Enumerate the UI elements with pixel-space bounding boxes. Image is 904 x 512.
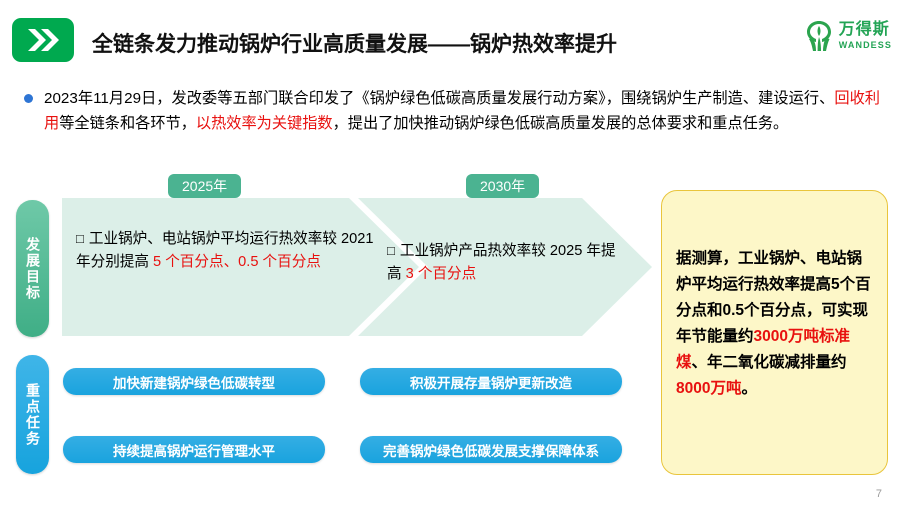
timeline-stage-text-2: □工业锅炉产品热效率较 2025 年提高 3 个百分点 (387, 239, 627, 286)
task-button-3[interactable]: 持续提高锅炉运行管理水平 (63, 436, 325, 463)
highlighted-text: 8000万吨 (676, 380, 741, 397)
timeline-chevron-band: □工业锅炉、电站锅炉平均运行热效率较 2021 年分别提高 5 个百分点、0.5… (62, 198, 652, 336)
body-text: 。 (741, 380, 757, 397)
stage-square-marker-icon: □ (387, 243, 395, 258)
logo-text-block: 万得斯 WANDESS (839, 22, 892, 50)
estimate-note-panel: 据测算，工业锅炉、电站锅炉平均运行热效率提高5个百分点和0.5个百分点，可实现年… (661, 190, 888, 475)
highlighted-text: 以热效率为关键指数 (196, 115, 333, 132)
slide-root: 全链条发力推动锅炉行业高质量发展——锅炉热效率提升 万得斯 WANDESS 20… (0, 0, 904, 512)
double-chevron-right-icon (12, 18, 74, 62)
highlighted-text: 5 个百分点、0.5 个百分点 (153, 254, 321, 270)
blue-dot-bullet-icon (24, 94, 33, 103)
green-leaf-sprout-logo-icon (804, 20, 834, 52)
company-logo: 万得斯 WANDESS (804, 14, 892, 58)
task-button-4[interactable]: 完善锅炉绿色低碳发展支撑保障体系 (360, 436, 622, 463)
body-text: ，提出了加快推动锅炉绿色低碳高质量发展的总体要求和重点任务。 (333, 115, 789, 132)
intro-paragraph-block: 2023年11月29日，发改委等五部门联合印发了《锅炉绿色低碳高质量发展行动方案… (24, 86, 880, 136)
logo-name-cn: 万得斯 (839, 22, 892, 38)
intro-paragraph-text: 2023年11月29日，发改委等五部门联合印发了《锅炉绿色低碳高质量发展行动方案… (44, 86, 880, 136)
section-tab-development-goal: 发展目标 (16, 200, 49, 337)
body-text: 、年二氧化碳减排量约 (692, 354, 847, 371)
task-button-1[interactable]: 加快新建锅炉绿色低碳转型 (63, 368, 325, 395)
slide-header: 全链条发力推动锅炉行业高质量发展——锅炉热效率提升 万得斯 WANDESS (0, 0, 904, 72)
stage-square-marker-icon: □ (76, 231, 84, 246)
timeline-stage-text-1: □工业锅炉、电站锅炉平均运行热效率较 2021 年分别提高 5 个百分点、0.5… (76, 227, 386, 274)
page-number: 7 (876, 488, 882, 500)
body-text: 等全链条和各环节， (59, 115, 196, 132)
body-text: 2023年11月29日，发改委等五部门联合印发了《锅炉绿色低碳高质量发展行动方案… (44, 90, 834, 107)
section-tab-key-tasks: 重点任务 (16, 355, 49, 474)
estimate-note-text: 据测算，工业锅炉、电站锅炉平均运行热效率提高5个百分点和0.5个百分点，可实现年… (676, 246, 876, 402)
page-title: 全链条发力推动锅炉行业高质量发展——锅炉热效率提升 (92, 28, 617, 58)
highlighted-text: 3 个百分点 (406, 266, 477, 282)
year-badge-2025: 2025年 (168, 174, 241, 198)
year-badge-2030: 2030年 (466, 174, 539, 198)
task-button-2[interactable]: 积极开展存量锅炉更新改造 (360, 368, 622, 395)
logo-name-en: WANDESS (839, 41, 892, 50)
